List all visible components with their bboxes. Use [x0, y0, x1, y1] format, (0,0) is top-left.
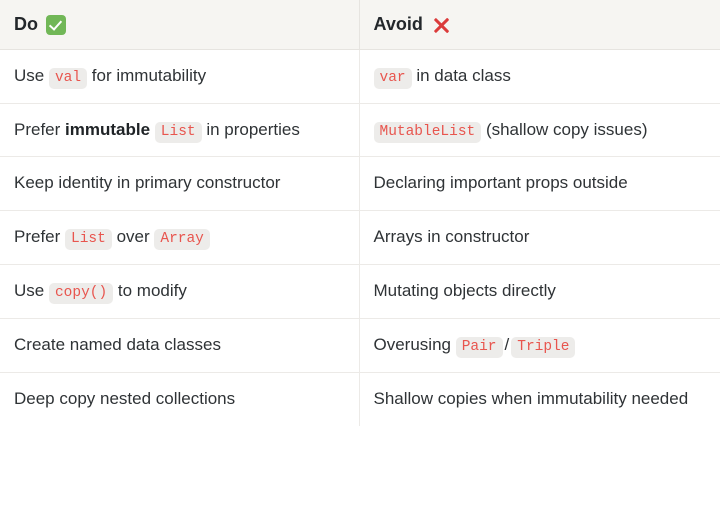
column-header-avoid: Avoid: [359, 0, 720, 49]
table-cell-avoid: MutableList (shallow copy issues): [359, 103, 720, 157]
cell-text: Arrays in constructor: [374, 227, 530, 246]
cell-text: Prefer: [14, 227, 65, 246]
code-chip: copy(): [49, 283, 113, 304]
code-chip: MutableList: [374, 122, 482, 143]
cross-mark-icon: [431, 15, 451, 35]
table-cell-avoid: Mutating objects directly: [359, 265, 720, 319]
cell-text: for immutability: [87, 66, 206, 85]
table-cell-avoid: Arrays in constructor: [359, 211, 720, 265]
table-row: Prefer List over ArrayArrays in construc…: [0, 211, 720, 265]
table-header: Do Avoid: [0, 0, 720, 49]
column-header-do-label: Do: [14, 14, 38, 36]
cell-text: Prefer: [14, 120, 65, 139]
cell-text: Create named data classes: [14, 335, 221, 354]
table-row: Prefer immutable List in propertiesMutab…: [0, 103, 720, 157]
table-cell-avoid: Declaring important props outside: [359, 157, 720, 211]
cell-text: in properties: [202, 120, 300, 139]
cell-text: Mutating objects directly: [374, 281, 556, 300]
table-body: Use val for immutabilityvar in data clas…: [0, 49, 720, 426]
table-cell-do: Use val for immutability: [0, 49, 359, 103]
code-chip: val: [49, 68, 87, 89]
cell-text: in data class: [412, 66, 511, 85]
cell-text: Keep identity in primary constructor: [14, 173, 280, 192]
table-cell-do: Keep identity in primary constructor: [0, 157, 359, 211]
cell-text: (shallow copy issues): [481, 120, 647, 139]
table-header-row: Do Avoid: [0, 0, 720, 49]
cell-text: Declaring important props outside: [374, 173, 628, 192]
column-header-avoid-label: Avoid: [374, 14, 423, 36]
code-chip: Pair: [456, 337, 503, 358]
column-header-do: Do: [0, 0, 359, 49]
code-chip: var: [374, 68, 412, 89]
table-row: Create named data classesOverusing Pair/…: [0, 319, 720, 373]
table-cell-do: Prefer List over Array: [0, 211, 359, 265]
table-row: Deep copy nested collectionsShallow copi…: [0, 372, 720, 425]
code-chip: List: [65, 229, 112, 250]
table-cell-do: Deep copy nested collections: [0, 372, 359, 425]
cell-text: Overusing: [374, 335, 456, 354]
table-row: Use copy() to modifyMutating objects dir…: [0, 265, 720, 319]
table-cell-do: Use copy() to modify: [0, 265, 359, 319]
do-avoid-table: Do Avoid Use val for immutabilityvar in …: [0, 0, 720, 426]
code-chip: List: [155, 122, 202, 143]
separator-slash: /: [503, 335, 512, 354]
table-cell-avoid: var in data class: [359, 49, 720, 103]
check-mark-icon: [46, 15, 66, 35]
table-cell-avoid: Shallow copies when immutability needed: [359, 372, 720, 425]
code-chip: Array: [154, 229, 210, 250]
table-cell-do: Create named data classes: [0, 319, 359, 373]
cell-text: Deep copy nested collections: [14, 389, 235, 408]
cell-text: Use: [14, 66, 49, 85]
cell-text: Shallow copies when immutability needed: [374, 389, 689, 408]
cell-text: to modify: [113, 281, 187, 300]
table-row: Keep identity in primary constructorDecl…: [0, 157, 720, 211]
do-avoid-table-container: Do Avoid Use val for immutabilityvar in …: [0, 0, 720, 507]
emphasis-text: immutable: [65, 120, 150, 139]
cell-text: over: [112, 227, 155, 246]
table-cell-do: Prefer immutable List in properties: [0, 103, 359, 157]
table-cell-avoid: Overusing Pair/Triple: [359, 319, 720, 373]
code-chip: Triple: [511, 337, 575, 358]
table-row: Use val for immutabilityvar in data clas…: [0, 49, 720, 103]
cell-text: Use: [14, 281, 49, 300]
